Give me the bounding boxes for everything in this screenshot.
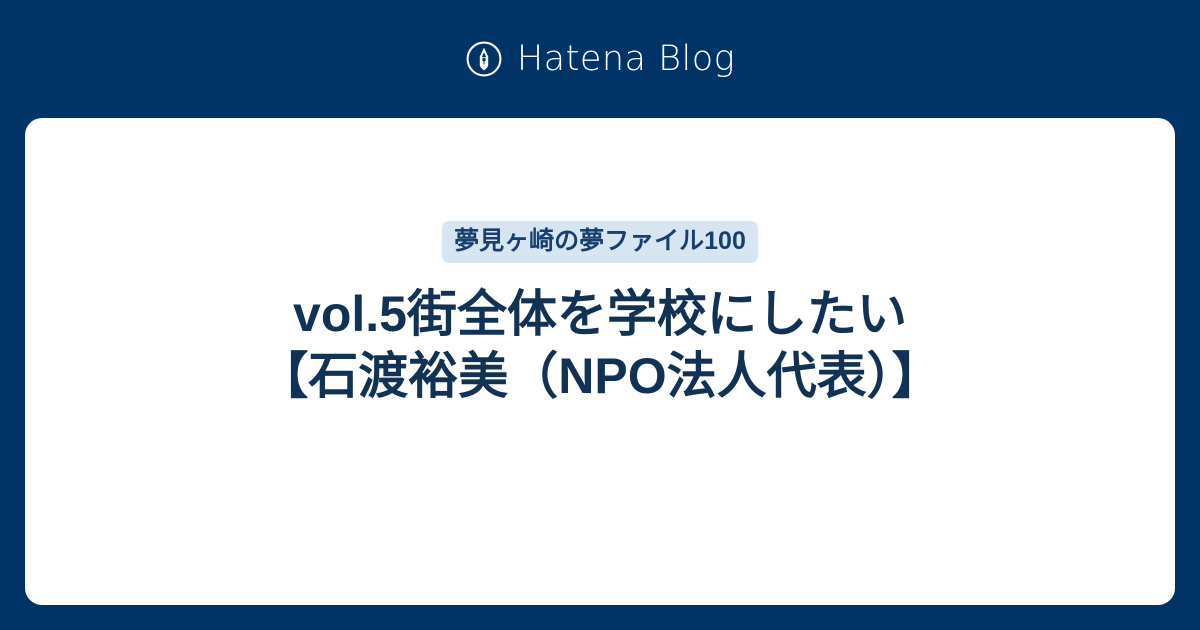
category-row: 夢見ヶ崎の夢ファイル100 (25, 221, 1175, 263)
entry-title-line-2: 【石渡裕美（NPO法人代表）】 (55, 345, 1145, 407)
entry-title-line-1: vol.5街全体を学校にしたい (55, 283, 1145, 345)
entry-card-content: 夢見ヶ崎の夢ファイル100 vol.5街全体を学校にしたい 【石渡裕美（NPO法… (25, 118, 1175, 605)
category-badge[interactable]: 夢見ヶ崎の夢ファイル100 (442, 221, 758, 263)
entry-card: 夢見ヶ崎の夢ファイル100 vol.5街全体を学校にしたい 【石渡裕美（NPO法… (25, 118, 1175, 605)
hatena-pen-nib-circle-icon (465, 40, 503, 78)
hatena-blog-brand-name: Hatena Blog (517, 42, 735, 77)
hatena-blog-header: Hatena Blog (0, 0, 1200, 118)
entry-title: vol.5街全体を学校にしたい 【石渡裕美（NPO法人代表）】 (25, 283, 1175, 407)
